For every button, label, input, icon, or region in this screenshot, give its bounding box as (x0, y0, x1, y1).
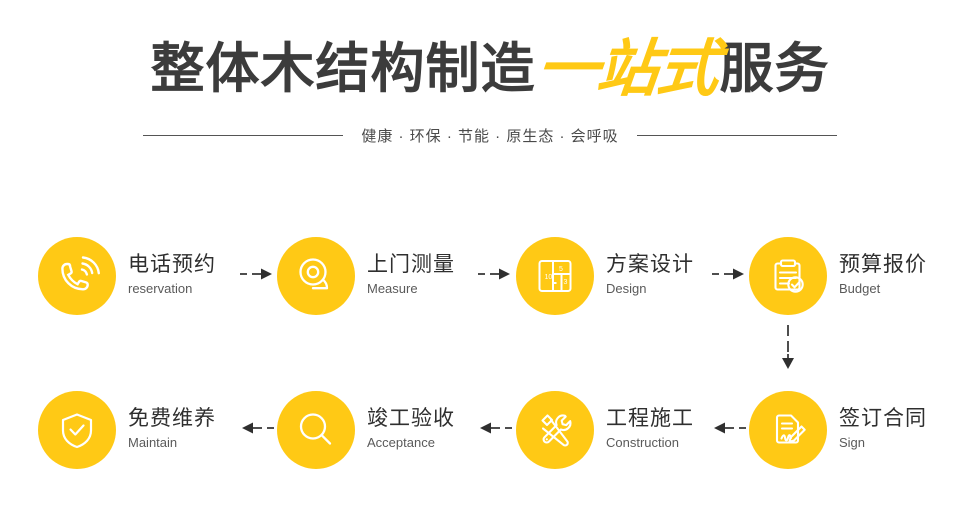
flow-step-label-cn: 工程施工 (606, 407, 694, 431)
flow-step-label-en: Design (606, 279, 694, 299)
subtitle-rule-right (637, 135, 837, 136)
flow-step-design[interactable]: 10 5 3 方案设计 Design (516, 221, 694, 331)
arrow-left-icon-2 (478, 421, 512, 435)
flow-step-acceptance[interactable]: 竣工验收 Acceptance (277, 375, 455, 485)
flow-step-label-cn: 预算报价 (839, 253, 927, 277)
flow-step-maintain[interactable]: 免费维养 Maintain (38, 375, 216, 485)
flow-step-measure[interactable]: 上门测量 Measure (277, 221, 455, 331)
flow-step-label-en: Maintain (128, 433, 216, 453)
subtitle-row: 健康 · 环保 · 节能 · 原生态 · 会呼吸 (0, 125, 980, 146)
flow-step-label-en: Acceptance (367, 433, 455, 453)
flow-step-label-cn: 方案设计 (606, 253, 694, 277)
flow-step-labels: 方案设计 Design (606, 253, 694, 299)
flow-row-two: 免费维养 Maintain 竣工验收 Acceptance (0, 375, 980, 485)
flow-step-labels: 竣工验收 Acceptance (367, 407, 455, 453)
flow-step-label-en: Construction (606, 433, 694, 453)
arrow-down-icon (772, 325, 804, 373)
arrow-left-icon-1 (240, 421, 274, 435)
flow-step-budget[interactable]: 预算报价 Budget (749, 221, 927, 331)
arrow-left-icon-3 (712, 421, 746, 435)
svg-text:10: 10 (545, 274, 553, 281)
subtitle-text: 健康 · 环保 · 节能 · 原生态 · 会呼吸 (361, 125, 618, 146)
flow-step-labels: 签订合同 Sign (839, 407, 927, 453)
flow-step-construction[interactable]: 工程施工 Construction (516, 375, 694, 485)
page-title: 整体木结构制造一站式服务 (0, 38, 980, 100)
clipboard-check-icon (749, 237, 827, 315)
hammer-wrench-icon (516, 391, 594, 469)
flow-step-reservation[interactable]: 电话预约 reservation (38, 221, 216, 331)
flow-step-sign[interactable]: 签订合同 Sign (749, 375, 927, 485)
flow-step-label-en: reservation (128, 279, 216, 299)
tape-measure-icon (277, 237, 355, 315)
flow-step-label-cn: 免费维养 (128, 407, 216, 431)
shield-check-icon (38, 391, 116, 469)
flow-step-labels: 上门测量 Measure (367, 253, 455, 299)
flow-step-label-en: Sign (839, 433, 927, 453)
phone-ring-icon (38, 237, 116, 315)
contract-pen-icon (749, 391, 827, 469)
subtitle-rule-left (143, 135, 343, 136)
arrow-right-icon-3 (712, 267, 746, 281)
flow-step-label-en: Measure (367, 279, 455, 299)
floor-plan-icon: 10 5 3 (516, 237, 594, 315)
flow-row-one: 电话预约 reservation 上门测量 Measure (0, 221, 980, 331)
flow-step-label-cn: 电话预约 (128, 253, 216, 277)
svg-text:3: 3 (564, 279, 568, 286)
flow-step-label-cn: 上门测量 (367, 253, 455, 277)
flow-step-labels: 免费维养 Maintain (128, 407, 216, 453)
title-part-one: 整体木结构制造 (150, 39, 535, 99)
magnifier-icon (277, 391, 355, 469)
flow-step-labels: 工程施工 Construction (606, 407, 694, 453)
flow-step-label-cn: 签订合同 (839, 407, 927, 431)
svg-text:5: 5 (559, 266, 563, 273)
title-accent-phrase: 一站式 (532, 38, 723, 100)
flow-step-label-en: Budget (839, 279, 927, 299)
arrow-right-icon-2 (478, 267, 512, 281)
infographic-canvas: 整体木结构制造一站式服务 健康 · 环保 · 节能 · 原生态 · 会呼吸 电话… (0, 0, 980, 505)
title-part-two: 服务 (720, 39, 830, 99)
arrow-right-icon-1 (240, 267, 274, 281)
flow-step-labels: 电话预约 reservation (128, 253, 216, 299)
flow-step-label-cn: 竣工验收 (367, 407, 455, 431)
flow-step-labels: 预算报价 Budget (839, 253, 927, 299)
